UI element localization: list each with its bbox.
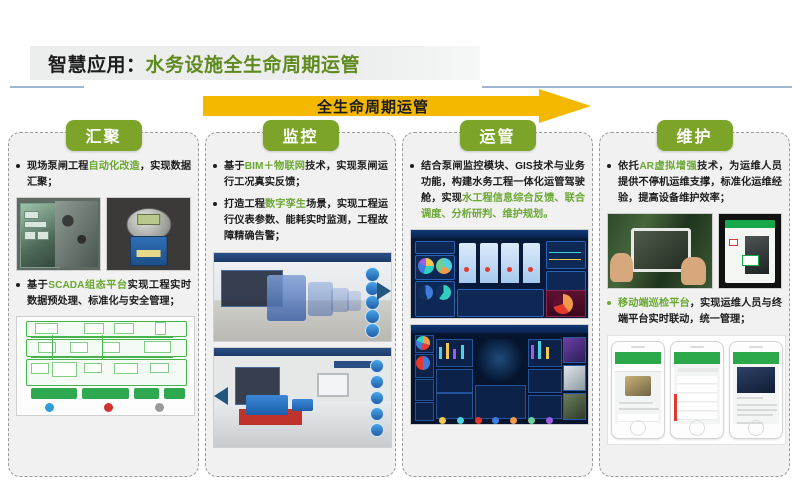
page-title-main: 水务设施全生命周期运管 [146, 55, 361, 76]
card-badge-operations: 运管 [459, 120, 535, 151]
card-convergence[interactable]: 汇聚 现场泵闸工程自动化改造，实现数据汇聚； [8, 132, 199, 477]
card-monitoring[interactable]: 监控 基于BIM＋物联网技术，实现泵闸运行工况真实反馈； 打造工程数字孪生场景，… [205, 132, 396, 477]
bullet-seg-highlight: 自动化改造 [89, 161, 140, 172]
photo-ar-tablet [718, 213, 782, 289]
screenshot-bim-pump-room [213, 347, 392, 448]
bullet-seg: 现场泵闸工程 [27, 161, 89, 172]
title-rule-right [482, 86, 792, 88]
bullet-item: 打造工程数字孪生场景，实现工程运行仪表参数、能耗实时监测，工程故障精确告警； [213, 197, 388, 245]
phone-mockup-inspection-list [670, 341, 724, 439]
phone-mockup-news-detail [729, 341, 783, 439]
card-bullets-convergence: 现场泵闸工程自动化改造，实现数据汇聚； [16, 159, 191, 191]
bullet-seg-highlight: SCADA组态平台 [48, 280, 127, 291]
card-maintenance[interactable]: 维护 依托AR虚拟增强技术，为运维人员提供不停机运维支撑，标准化运维经验，提高设… [599, 132, 790, 477]
bullet-seg: 基于 [27, 280, 48, 291]
page-title-prefix: 智慧应用： [48, 55, 146, 76]
screenshot-bim-tank-hall [213, 252, 392, 342]
bullet-item: 现场泵闸工程自动化改造，实现数据汇聚； [16, 159, 191, 191]
card-bullets-maintenance: 依托AR虚拟增强技术，为运维人员提供不停机运维支撑，标准化运维经验，提高设备维护… [607, 159, 782, 207]
lifecycle-arrow-banner: 全生命周期运管 [203, 92, 591, 120]
bullet-item: 移动端巡检平台，实现运维人员与终端平台实时联动，统一管理； [607, 296, 782, 328]
card-bullets-convergence-2: 基于SCADA组态平台实现工程实时数据预处理、标准化与安全管理； [16, 278, 191, 310]
bullet-seg: 依托 [618, 161, 639, 172]
card-bullets-monitoring: 基于BIM＋物联网技术，实现泵闸运行工况真实反馈； 打造工程数字孪生场景，实现工… [213, 159, 388, 246]
screenshot-gate-monitoring-dashboard [410, 229, 589, 319]
photo-ar-maintenance [607, 213, 713, 289]
bullet-seg-highlight: BIM＋物联网 [245, 161, 305, 172]
bullet-item: 基于BIM＋物联网技术，实现泵闸运行工况真实反馈； [213, 159, 388, 191]
card-badge-maintenance: 维护 [656, 120, 732, 151]
card-operations[interactable]: 运管 结合泵闸监控模块、GIS技术与业务功能，构建水务工程一体化运管驾驶舱，实现… [402, 132, 593, 477]
media-convergence-photos [16, 197, 191, 271]
bullet-item: 依托AR虚拟增强技术，为运维人员提供不停机运维支撑，标准化运维经验，提高设备维护… [607, 159, 782, 207]
bullet-seg-highlight: 移动端巡检平台 [618, 298, 690, 309]
bullet-seg-highlight: AR虚拟增强 [639, 161, 697, 172]
bullet-seg: 打造工程 [224, 199, 265, 210]
page-title-bar: 智慧应用：水务设施全生命周期运管 [30, 46, 480, 80]
card-bullets-maintenance-2: 移动端巡检平台，实现运维人员与终端平台实时联动，统一管理； [607, 296, 782, 328]
bullet-seg-highlight: 数字孪生 [265, 199, 306, 210]
card-badge-convergence: 汇聚 [65, 120, 141, 151]
media-maintenance-photos [607, 213, 782, 289]
arrow-label: 全生命周期运管 [203, 92, 543, 120]
arrow-head-icon [539, 89, 591, 123]
card-bullets-operations: 结合泵闸监控模块、GIS技术与业务功能，构建水务工程一体化运管驾驶舱，实现水工程… [410, 159, 585, 223]
bullet-item: 结合泵闸监控模块、GIS技术与业务功能，构建水务工程一体化运管驾驶舱，实现水工程… [410, 159, 585, 223]
photo-flow-meter [106, 197, 191, 271]
diagram-network-topology [16, 316, 195, 416]
bullet-item: 基于SCADA组态平台实现工程实时数据预处理、标准化与安全管理； [16, 278, 191, 310]
page-title: 智慧应用：水务设施全生命周期运管 [48, 50, 360, 77]
card-badge-monitoring: 监控 [262, 120, 338, 151]
mockup-mobile-inspection-app [607, 335, 786, 445]
lifecycle-cards: 汇聚 现场泵闸工程自动化改造，实现数据汇聚； [8, 132, 792, 480]
title-rule-left [10, 86, 84, 88]
phone-mockup-device-detail [611, 341, 665, 439]
photo-control-cabinet [16, 197, 101, 271]
bullet-seg: 基于 [224, 161, 245, 172]
screenshot-gis-analytics-dashboard [410, 324, 589, 425]
